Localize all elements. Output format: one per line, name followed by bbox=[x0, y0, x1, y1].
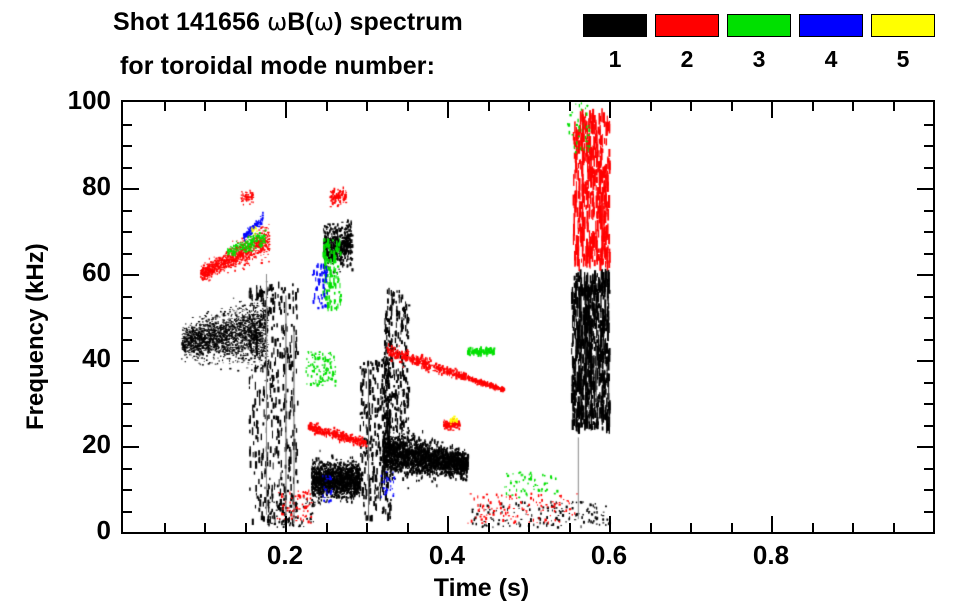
x-tick-top-0.1 bbox=[204, 102, 206, 111]
legend-label-3: 3 bbox=[727, 46, 791, 72]
x-tick-top-0.35 bbox=[407, 102, 409, 111]
x-tick-bottom-0.6 bbox=[609, 516, 611, 532]
x-tick-bottom-0.75 bbox=[731, 523, 733, 532]
legend-item-1: 1 bbox=[583, 14, 647, 37]
x-tick-top-0.25 bbox=[326, 102, 328, 111]
y-tick-left-80 bbox=[123, 188, 139, 190]
x-axis-label: Time (s) bbox=[0, 574, 963, 603]
legend-item-5: 5 bbox=[871, 14, 935, 37]
title-suffix: ) spectrum bbox=[334, 8, 463, 36]
x-tick-top-0.7 bbox=[690, 102, 692, 111]
x-tick-top-0.8 bbox=[771, 102, 773, 118]
legend-label-1: 1 bbox=[583, 46, 647, 72]
y-tick-left-50 bbox=[123, 317, 132, 319]
spectrogram-canvas bbox=[123, 102, 933, 532]
x-tick-top-0.75 bbox=[731, 102, 733, 111]
x-tick-top-0.05 bbox=[164, 102, 166, 111]
y-axis-label: Frequency (kHz) bbox=[22, 243, 50, 430]
y-tick-right-5 bbox=[924, 511, 933, 513]
x-tick-bottom-0.2 bbox=[285, 516, 287, 532]
y-tick-right-50 bbox=[924, 317, 933, 319]
y-tick-left-95 bbox=[123, 124, 132, 126]
y-tick-left-35 bbox=[123, 382, 132, 384]
x-tick-bottom-0.15 bbox=[245, 523, 247, 532]
title-prefix: Shot 141656 bbox=[113, 8, 267, 36]
y-tick-right-85 bbox=[924, 167, 933, 169]
y-tick-label-80: 80 bbox=[31, 171, 111, 202]
y-tick-right-60 bbox=[917, 274, 933, 276]
figure-title-line-2: for toroidal mode number: bbox=[120, 52, 435, 81]
y-tick-right-55 bbox=[924, 296, 933, 298]
legend-swatch-1 bbox=[583, 14, 647, 37]
x-tick-label-0.4: 0.4 bbox=[414, 540, 480, 571]
figure-title-line-1: Shot 141656 ωB(ω) spectrum bbox=[113, 8, 463, 37]
y-tick-right-25 bbox=[924, 425, 933, 427]
y-tick-left-70 bbox=[123, 231, 132, 233]
x-tick-bottom-0.85 bbox=[812, 523, 814, 532]
x-tick-bottom-0.35 bbox=[407, 523, 409, 532]
y-tick-right-95 bbox=[924, 124, 933, 126]
x-tick-label-0.8: 0.8 bbox=[738, 540, 804, 571]
y-tick-left-65 bbox=[123, 253, 132, 255]
legend-swatch-2 bbox=[655, 14, 719, 37]
y-tick-label-100: 100 bbox=[31, 85, 111, 116]
y-tick-right-35 bbox=[924, 382, 933, 384]
x-tick-bottom-0.25 bbox=[326, 523, 328, 532]
title-mid: B( bbox=[287, 8, 314, 36]
x-tick-bottom-0.65 bbox=[650, 523, 652, 532]
y-tick-left-85 bbox=[123, 167, 132, 169]
legend-swatch-4 bbox=[799, 14, 863, 37]
plot-frame bbox=[121, 100, 935, 534]
y-tick-left-75 bbox=[123, 210, 132, 212]
omega-symbol-2: ω bbox=[314, 8, 334, 36]
x-tick-top-0.15 bbox=[245, 102, 247, 111]
legend: 12345 bbox=[583, 14, 953, 86]
y-tick-right-40 bbox=[917, 360, 933, 362]
x-tick-bottom-0.7 bbox=[690, 523, 692, 532]
x-tick-top-0.4 bbox=[447, 102, 449, 118]
y-tick-right-20 bbox=[917, 446, 933, 448]
x-tick-top-0.85 bbox=[812, 102, 814, 111]
y-tick-left-5 bbox=[123, 511, 132, 513]
legend-item-4: 4 bbox=[799, 14, 863, 37]
x-tick-top-0.6 bbox=[609, 102, 611, 118]
y-tick-right-10 bbox=[924, 489, 933, 491]
x-tick-bottom-0.4 bbox=[447, 516, 449, 532]
y-tick-right-45 bbox=[924, 339, 933, 341]
x-tick-bottom-0.05 bbox=[164, 523, 166, 532]
x-tick-bottom-0.8 bbox=[771, 516, 773, 532]
x-tick-top-0.3 bbox=[366, 102, 368, 111]
spectrogram-figure: Shot 141656 ωB(ω) spectrum for toroidal … bbox=[0, 0, 963, 615]
y-tick-left-60 bbox=[123, 274, 139, 276]
x-tick-bottom-0.45 bbox=[488, 523, 490, 532]
y-tick-left-15 bbox=[123, 468, 132, 470]
y-tick-left-55 bbox=[123, 296, 132, 298]
x-tick-bottom-0.9 bbox=[852, 523, 854, 532]
y-tick-left-10 bbox=[123, 489, 132, 491]
y-tick-right-30 bbox=[924, 403, 933, 405]
y-tick-right-80 bbox=[917, 188, 933, 190]
x-tick-top-0.5 bbox=[528, 102, 530, 111]
x-tick-bottom-0.95 bbox=[893, 523, 895, 532]
x-tick-label-0.2: 0.2 bbox=[252, 540, 318, 571]
y-tick-left-90 bbox=[123, 145, 132, 147]
y-tick-left-25 bbox=[123, 425, 132, 427]
y-tick-label-0: 0 bbox=[31, 515, 111, 546]
legend-label-2: 2 bbox=[655, 46, 719, 72]
omega-symbol-1: ω bbox=[267, 8, 287, 36]
y-tick-right-15 bbox=[924, 468, 933, 470]
legend-item-2: 2 bbox=[655, 14, 719, 37]
y-tick-left-40 bbox=[123, 360, 139, 362]
x-tick-label-0.6: 0.6 bbox=[576, 540, 642, 571]
legend-label-4: 4 bbox=[799, 46, 863, 72]
x-tick-top-0.95 bbox=[893, 102, 895, 111]
x-tick-top-0.2 bbox=[285, 102, 287, 118]
x-tick-top-0.55 bbox=[569, 102, 571, 111]
y-tick-left-30 bbox=[123, 403, 132, 405]
x-tick-top-0.65 bbox=[650, 102, 652, 111]
y-tick-right-65 bbox=[924, 253, 933, 255]
y-tick-label-20: 20 bbox=[31, 429, 111, 460]
x-tick-top-0.9 bbox=[852, 102, 854, 111]
y-tick-right-70 bbox=[924, 231, 933, 233]
x-tick-top-0.45 bbox=[488, 102, 490, 111]
y-tick-left-20 bbox=[123, 446, 139, 448]
x-tick-bottom-0.3 bbox=[366, 523, 368, 532]
y-tick-right-90 bbox=[924, 145, 933, 147]
x-tick-bottom-0.55 bbox=[569, 523, 571, 532]
legend-label-5: 5 bbox=[871, 46, 935, 72]
x-tick-bottom-0.5 bbox=[528, 523, 530, 532]
legend-swatch-5 bbox=[871, 14, 935, 37]
y-tick-left-45 bbox=[123, 339, 132, 341]
x-tick-bottom-0.1 bbox=[204, 523, 206, 532]
legend-item-3: 3 bbox=[727, 14, 791, 37]
legend-swatch-3 bbox=[727, 14, 791, 37]
y-tick-right-75 bbox=[924, 210, 933, 212]
